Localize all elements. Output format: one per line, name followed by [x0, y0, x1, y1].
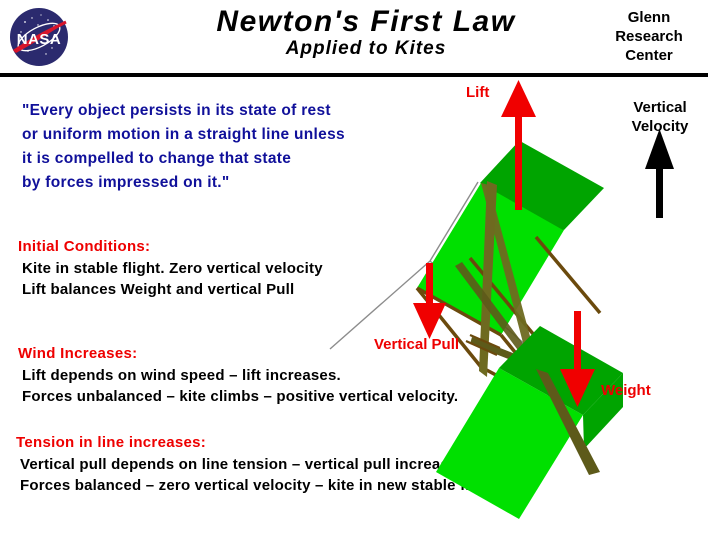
vertical-velocity-label-line2: Velocity	[618, 117, 702, 136]
center-line-3: Center	[596, 46, 702, 65]
center-line-2: Research	[596, 27, 702, 46]
weight-label: Weight	[601, 382, 651, 399]
lift-label: Lift	[466, 84, 489, 101]
center-line-1: Glenn	[596, 8, 702, 27]
vertical-velocity-label-line1: Vertical	[618, 98, 702, 117]
vertical-pull-label: Vertical Pull	[374, 336, 459, 353]
research-center-label: Glenn Research Center	[596, 8, 702, 65]
vertical-velocity-arrow	[645, 129, 674, 218]
page-title: Newton's First Law Applied to Kites	[196, 6, 536, 60]
kite-force-diagram	[0, 77, 708, 533]
title-subtitle: Applied to Kites	[196, 38, 536, 60]
vertical-velocity-label: Vertical Velocity	[618, 98, 702, 136]
nasa-logo-text: NASA	[17, 31, 62, 48]
nasa-meatball-logo: NASA	[8, 6, 70, 68]
title-main: Newton's First Law	[196, 6, 536, 38]
